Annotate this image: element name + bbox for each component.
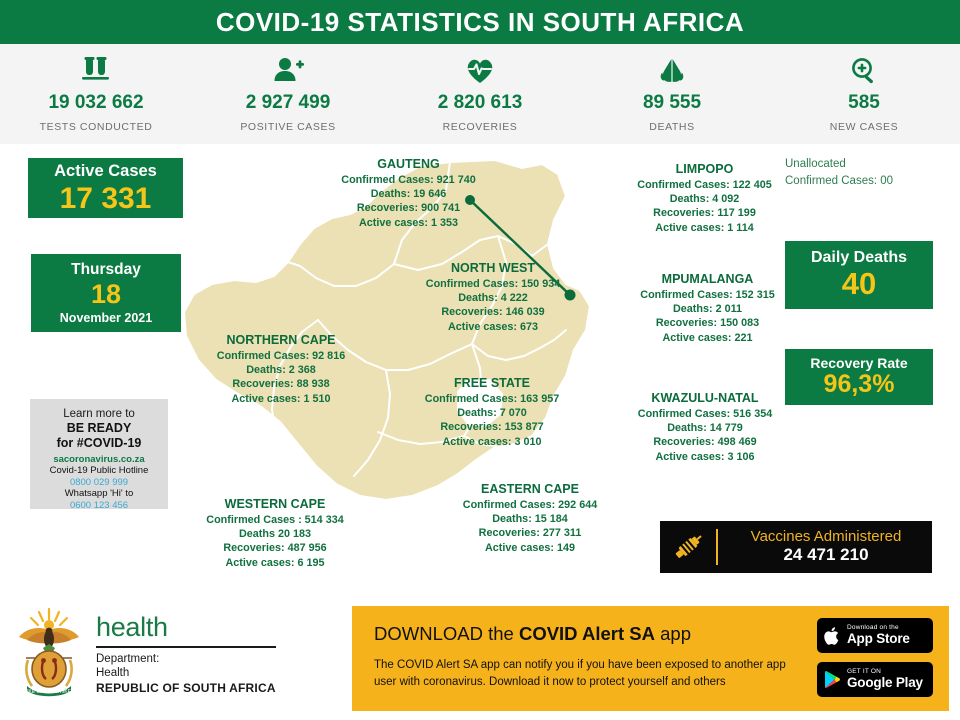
province-active: Active cases: 1 114 <box>597 221 812 235</box>
province-recoveries: Recoveries: 277 311 <box>430 526 630 540</box>
infographic-page: COVID-19 STATISTICS IN SOUTH AFRICA 19 0… <box>0 0 960 720</box>
apple-icon <box>824 626 841 646</box>
stat-recoveries: 2 820 613 RECOVERIES <box>384 56 576 133</box>
province-label-gauteng: GAUTENG Confirmed Cases: 921 740 Deaths:… <box>286 156 531 230</box>
province-active: Active cases: 3 010 <box>396 435 588 449</box>
province-confirmed: Confirmed Cases: 122 405 <box>597 178 812 192</box>
active-cases-title: Active Cases <box>54 162 157 181</box>
test-tubes-icon <box>79 56 113 86</box>
province-confirmed: Confirmed Cases: 150 934 <box>388 277 598 291</box>
province-name: NORTH WEST <box>388 260 598 277</box>
province-confirmed: Confirmed Cases: 292 644 <box>430 498 630 512</box>
recovery-rate-card: Recovery Rate 96,3% <box>785 349 933 405</box>
province-confirmed: Confirmed Cases: 516 354 <box>605 407 805 421</box>
vaccines-value: 24 471 210 <box>720 545 932 565</box>
date-month-year: November 2021 <box>60 311 152 325</box>
province-label-free-state: FREE STATE Confirmed Cases: 163 957 Deat… <box>396 375 588 449</box>
province-label-north-west: NORTH WEST Confirmed Cases: 150 934 Deat… <box>388 260 598 334</box>
logo-text-block: health Department: Health REPUBLIC OF SO… <box>96 609 276 694</box>
stat-label: DEATHS <box>649 121 694 133</box>
province-name: LIMPOPO <box>597 161 812 178</box>
logo-divider <box>96 646 276 648</box>
province-confirmed: Confirmed Cases: 152 315 <box>600 288 815 302</box>
province-active: Active cases: 3 106 <box>605 450 805 464</box>
hotline-label: Covid-19 Public Hotline <box>30 465 168 477</box>
app-heading-bold: COVID Alert SA <box>519 623 655 644</box>
recovery-rate-title: Recovery Rate <box>810 355 907 371</box>
logo-republic: REPUBLIC OF SOUTH AFRICA <box>96 681 276 695</box>
app-heading-pre: DOWNLOAD the <box>374 623 519 644</box>
be-ready-box: Learn more to BE READY for #COVID-19 sac… <box>30 399 168 509</box>
province-active: Active cases: 221 <box>600 331 815 345</box>
heart-pulse-icon <box>465 56 495 86</box>
page-title: COVID-19 STATISTICS IN SOUTH AFRICA <box>216 7 744 38</box>
province-label-mpumalanga: MPUMALANGA Confirmed Cases: 152 315 Deat… <box>600 271 815 345</box>
coat-of-arms-icon: !KE E: ǀXARRA ǁKE <box>12 606 86 698</box>
stat-value: 585 <box>848 92 880 114</box>
province-recoveries: Recoveries: 146 039 <box>388 305 598 319</box>
active-cases-value: 17 331 <box>60 182 152 215</box>
logo-health-wordmark: health <box>96 615 276 641</box>
province-confirmed: Confirmed Cases : 514 334 <box>175 513 375 527</box>
province-active: Active cases: 1 510 <box>190 392 372 406</box>
province-deaths: Deaths: 19 646 <box>286 187 531 201</box>
province-name: KWAZULU-NATAL <box>605 390 805 407</box>
active-cases-card: Active Cases 17 331 <box>28 158 183 218</box>
province-name: NORTHERN CAPE <box>190 332 372 349</box>
stat-value: 2 820 613 <box>438 92 523 114</box>
date-card: Thursday 18 November 2021 <box>31 254 181 332</box>
province-label-kwazulu-natal: KWAZULU-NATAL Confirmed Cases: 516 354 D… <box>605 390 805 464</box>
stat-label: NEW CASES <box>830 121 898 133</box>
app-store-big-label: App Store <box>847 632 910 646</box>
vaccines-text: Vaccines Administered 24 471 210 <box>718 528 932 566</box>
province-recoveries: Recoveries: 117 199 <box>597 206 812 220</box>
province-deaths: Deaths: 15 184 <box>430 512 630 526</box>
province-name: MPUMALANGA <box>600 271 815 288</box>
stat-value: 89 555 <box>643 92 701 114</box>
google-play-big-label: Google Play <box>847 676 923 690</box>
magnifier-plus-icon <box>849 56 879 86</box>
google-play-button[interactable]: GET IT ON Google Play <box>817 662 933 697</box>
province-deaths: Deaths: 4 092 <box>597 192 812 206</box>
stat-label: RECOVERIES <box>443 121 518 133</box>
province-deaths: Deaths: 14 779 <box>605 421 805 435</box>
be-ready-line1: Learn more to <box>30 407 168 421</box>
app-banner-body: The COVID Alert SA app can notify you if… <box>374 657 804 692</box>
date-weekday: Thursday <box>71 261 141 279</box>
store-buttons: Download on the App Store GET IT ON Goog… <box>817 618 933 697</box>
stat-new-cases: 585 NEW CASES <box>768 56 960 133</box>
person-plus-icon <box>272 56 304 86</box>
stat-label: POSITIVE CASES <box>240 121 335 133</box>
app-heading-post: app <box>655 623 691 644</box>
whatsapp-number: 0600 123 456 <box>30 500 168 512</box>
stat-value: 2 927 499 <box>246 92 331 114</box>
province-active: Active cases: 6 195 <box>175 556 375 570</box>
daily-deaths-value: 40 <box>842 267 876 301</box>
recovery-rate-value: 96,3% <box>824 371 895 399</box>
province-recoveries: Recoveries: 88 938 <box>190 377 372 391</box>
svg-text:!KE E: ǀXARRA ǁKE: !KE E: ǀXARRA ǁKE <box>27 689 72 695</box>
stat-label: TESTS CONDUCTED <box>40 121 153 133</box>
logo-department-line1: Department: <box>96 652 276 666</box>
province-label-western-cape: WESTERN CAPE Confirmed Cases : 514 334 D… <box>175 496 375 570</box>
province-recoveries: Recoveries: 498 469 <box>605 435 805 449</box>
province-name: FREE STATE <box>396 375 588 392</box>
province-active: Active cases: 149 <box>430 541 630 555</box>
province-label-limpopo: LIMPOPO Confirmed Cases: 122 405 Deaths:… <box>597 161 812 235</box>
province-active: Active cases: 673 <box>388 320 598 334</box>
app-download-banner: DOWNLOAD the COVID Alert SA app The COVI… <box>352 606 949 711</box>
province-confirmed: Confirmed Cases: 163 957 <box>396 392 588 406</box>
map-area: Active Cases 17 331 Thursday 18 November… <box>0 144 960 599</box>
province-deaths: Deaths: 4 222 <box>388 291 598 305</box>
whatsapp-label: Whatsapp 'Hi' to <box>30 488 168 500</box>
province-deaths: Deaths: 2 011 <box>600 302 815 316</box>
health-department-logo: !KE E: ǀXARRA ǁKE health Department: Hea… <box>12 606 276 698</box>
stats-strip: 19 032 662 TESTS CONDUCTED 2 927 499 POS… <box>0 44 960 144</box>
app-store-button[interactable]: Download on the App Store <box>817 618 933 653</box>
province-name: EASTERN CAPE <box>430 481 630 498</box>
stat-positive-cases: 2 927 499 POSITIVE CASES <box>192 56 384 133</box>
province-recoveries: Recoveries: 900 741 <box>286 201 531 215</box>
stat-tests-conducted: 19 032 662 TESTS CONDUCTED <box>0 56 192 133</box>
footer: !KE E: ǀXARRA ǁKE health Department: Hea… <box>0 599 960 720</box>
province-recoveries: Recoveries: 153 877 <box>396 420 588 434</box>
vaccines-title: Vaccines Administered <box>720 528 932 545</box>
date-day: 18 <box>91 280 121 310</box>
logo-department-line2: Health <box>96 666 276 680</box>
vaccines-administered-banner: Vaccines Administered 24 471 210 <box>660 521 932 573</box>
province-label-eastern-cape: EASTERN CAPE Confirmed Cases: 292 644 De… <box>430 481 630 555</box>
province-recoveries: Recoveries: 150 083 <box>600 316 815 330</box>
stat-deaths: 89 555 DEATHS <box>576 56 768 133</box>
province-recoveries: Recoveries: 487 956 <box>175 541 375 555</box>
province-deaths: Deaths 20 183 <box>175 527 375 541</box>
praying-hands-icon <box>658 56 686 86</box>
province-name: WESTERN CAPE <box>175 496 375 513</box>
daily-deaths-title: Daily Deaths <box>811 249 907 267</box>
province-name: GAUTENG <box>286 156 531 173</box>
be-ready-url[interactable]: sacoronavirus.co.za <box>30 454 168 466</box>
stat-value: 19 032 662 <box>48 92 143 114</box>
province-label-northern-cape: NORTHERN CAPE Confirmed Cases: 92 816 De… <box>190 332 372 406</box>
province-deaths: Deaths: 7 070 <box>396 406 588 420</box>
be-ready-line2: BE READY <box>30 421 168 436</box>
be-ready-line3: for #COVID-19 <box>30 436 168 451</box>
header-bar: COVID-19 STATISTICS IN SOUTH AFRICA <box>0 0 960 44</box>
province-deaths: Deaths: 2 368 <box>190 363 372 377</box>
province-confirmed: Confirmed Cases: 92 816 <box>190 349 372 363</box>
syringe-icon <box>660 531 716 563</box>
google-play-icon <box>824 670 841 689</box>
province-active: Active cases: 1 353 <box>286 216 531 230</box>
hotline-number: 0800 029 999 <box>30 477 168 489</box>
province-confirmed: Confirmed Cases: 921 740 <box>286 173 531 187</box>
